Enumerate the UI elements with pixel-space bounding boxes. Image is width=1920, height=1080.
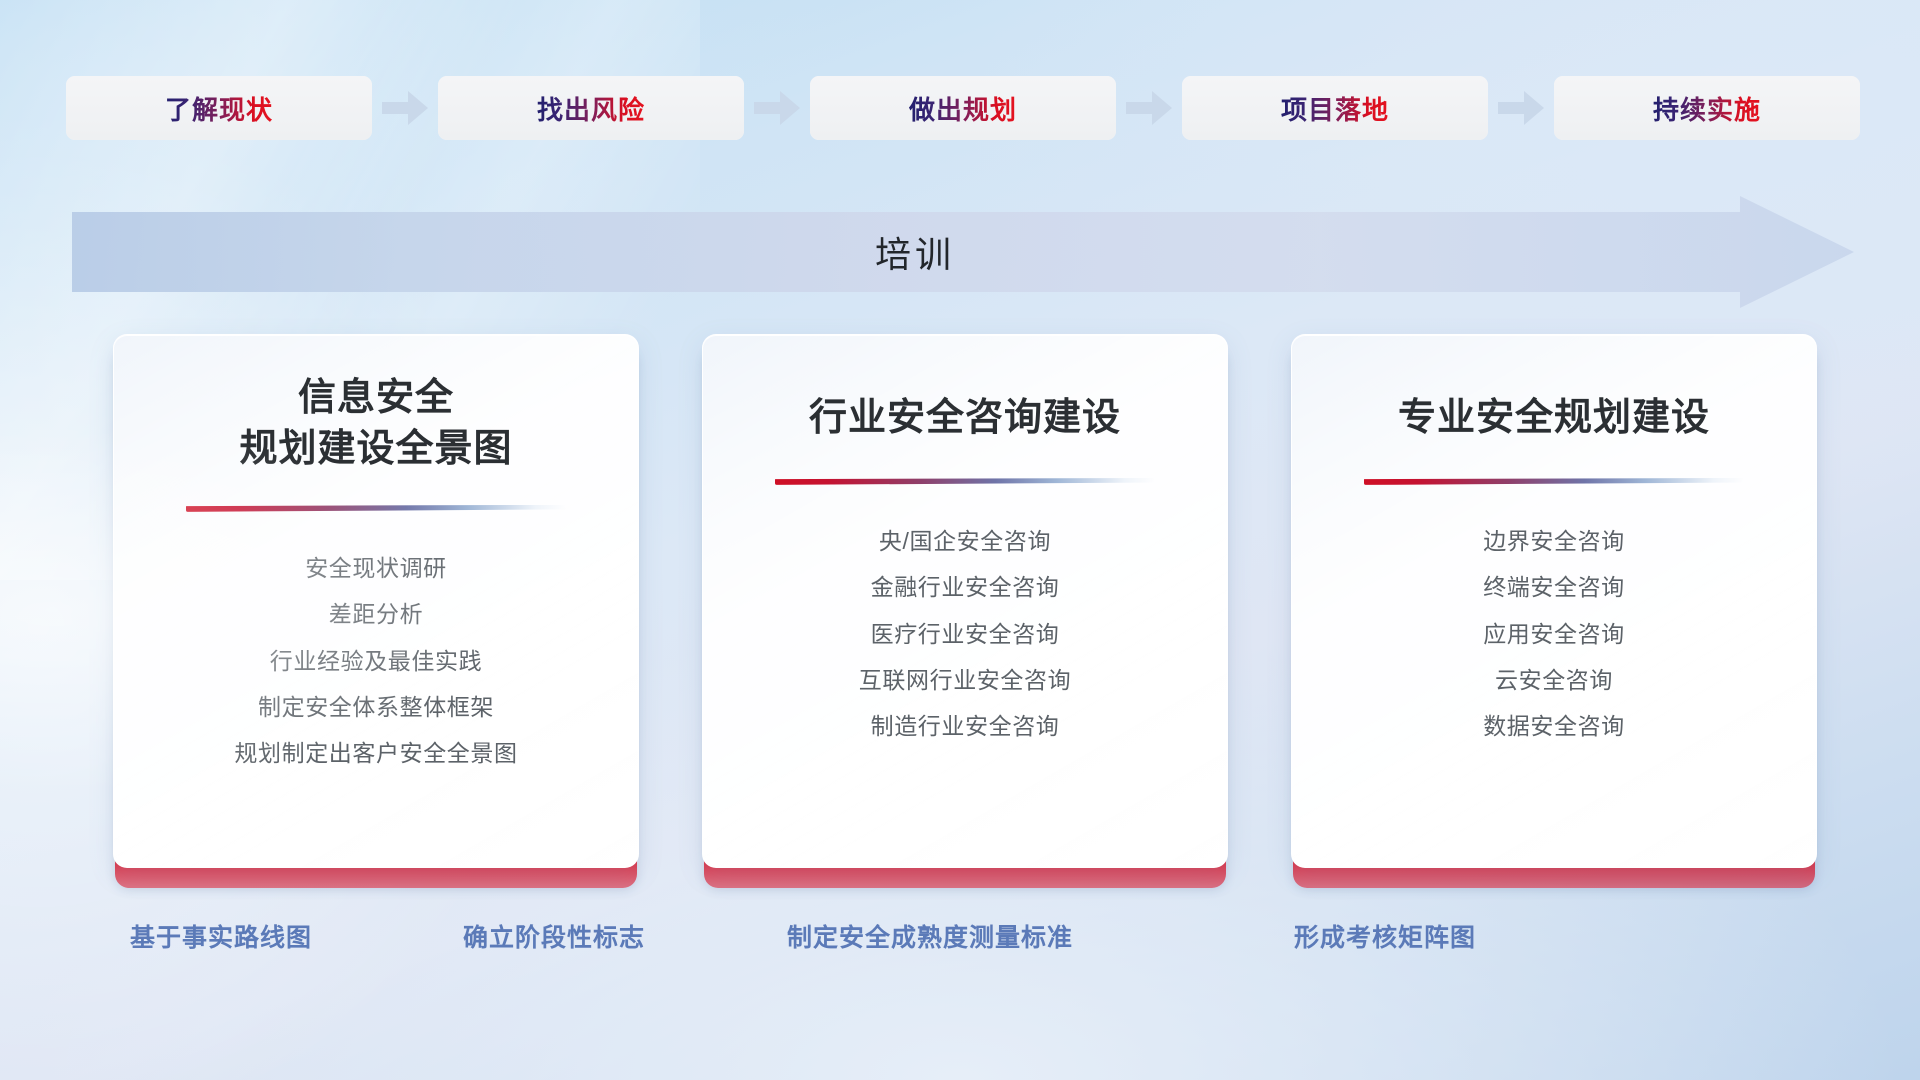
list-item: 制造行业安全咨询 [871,710,1060,743]
pipeline-step-2[interactable]: 找出风险 [438,76,744,140]
footnote-label: 形成考核矩阵图 [1294,918,1476,954]
list-item: 金融行业安全咨询 [871,571,1060,604]
list-item: 制定安全体系整体框架 [258,691,494,724]
process-pipeline: 了解现状 找出风险 做出规划 [66,76,1862,140]
card-divider [1364,478,1744,485]
pipeline-step-face: 项目落地 [1182,76,1488,140]
list-item: 行业经验及最佳实践 [270,645,482,678]
pipeline-step-face: 找出风险 [438,76,744,140]
pipeline-arrow-3 [1116,76,1182,140]
footnote-row: 基于事实路线图 确立阶段性标志 制定安全成熟度测量标准 形成考核矩阵图 [0,918,1920,964]
card-1[interactable]: 信息安全 规划建设全景图 安全现状调研 差距分析 行业经验及最佳实践 制定安全体… [113,334,639,876]
pipeline-step-face: 做出规划 [810,76,1116,140]
pipeline-step-label: 做出规划 [909,90,1017,127]
pipeline-step-label: 了解现状 [165,90,273,127]
card-title: 专业安全规划建设 [1398,393,1710,444]
footnote-label: 确立阶段性标志 [463,918,645,954]
training-banner-label: 培训 [24,196,1806,308]
pipeline-arrow-1 [372,76,438,140]
pipeline-step-4[interactable]: 项目落地 [1182,76,1488,140]
list-item: 医疗行业安全咨询 [871,618,1060,651]
card-surface: 信息安全 规划建设全景图 安全现状调研 差距分析 行业经验及最佳实践 制定安全体… [113,334,639,868]
card-group: 信息安全 规划建设全景图 安全现状调研 差距分析 行业经验及最佳实践 制定安全体… [113,334,1813,876]
card-surface: 行业安全咨询建设 央/国企安全咨询 金融行业安全咨询 医疗行业安全咨询 互联网行… [702,334,1228,868]
pipeline-step-label: 项目落地 [1281,90,1389,127]
right-arrow-icon [754,91,800,125]
card-3[interactable]: 专业安全规划建设 边界安全咨询 终端安全咨询 应用安全咨询 云安全咨询 数据安全… [1291,334,1817,876]
card-surface: 专业安全规划建设 边界安全咨询 终端安全咨询 应用安全咨询 云安全咨询 数据安全… [1291,334,1817,868]
pipeline-step-label: 找出风险 [537,90,645,127]
card-item-list: 央/国企安全咨询 金融行业安全咨询 医疗行业安全咨询 互联网行业安全咨询 制造行… [703,525,1227,744]
slide-canvas: 了解现状 找出风险 做出规划 [0,0,1920,1080]
footnote-label: 制定安全成熟度测量标准 [787,918,1073,954]
list-item: 互联网行业安全咨询 [859,664,1071,697]
pipeline-step-3[interactable]: 做出规划 [810,76,1116,140]
list-item: 规划制定出客户安全全景图 [234,737,517,770]
card-2[interactable]: 行业安全咨询建设 央/国企安全咨询 金融行业安全咨询 医疗行业安全咨询 互联网行… [702,334,1228,876]
pipeline-step-face: 持续实施 [1554,76,1860,140]
pipeline-step-5[interactable]: 持续实施 [1554,76,1860,140]
list-item: 边界安全咨询 [1483,525,1625,558]
pipeline-arrow-2 [744,76,810,140]
card-title: 信息安全 规划建设全景图 [239,373,512,475]
training-banner: 培训 [72,196,1854,308]
pipeline-arrow-4 [1488,76,1554,140]
right-arrow-icon [1126,91,1172,125]
footnote-label: 基于事实路线图 [130,918,312,954]
list-item: 数据安全咨询 [1483,710,1625,743]
card-divider [186,505,566,512]
right-arrow-icon [382,91,428,125]
card-item-list: 边界安全咨询 终端安全咨询 应用安全咨询 云安全咨询 数据安全咨询 [1292,525,1816,744]
card-item-list: 安全现状调研 差距分析 行业经验及最佳实践 制定安全体系整体框架 规划制定出客户… [114,552,638,771]
card-divider [775,478,1155,485]
list-item: 云安全咨询 [1495,664,1613,697]
list-item: 应用安全咨询 [1483,618,1625,651]
right-arrow-icon [1498,91,1544,125]
list-item: 安全现状调研 [305,552,447,585]
list-item: 终端安全咨询 [1483,571,1625,604]
pipeline-step-1[interactable]: 了解现状 [66,76,372,140]
pipeline-step-face: 了解现状 [66,76,372,140]
list-item: 央/国企安全咨询 [879,525,1051,558]
card-title: 行业安全咨询建设 [809,393,1121,444]
list-item: 差距分析 [329,598,423,631]
pipeline-step-label: 持续实施 [1653,90,1761,127]
